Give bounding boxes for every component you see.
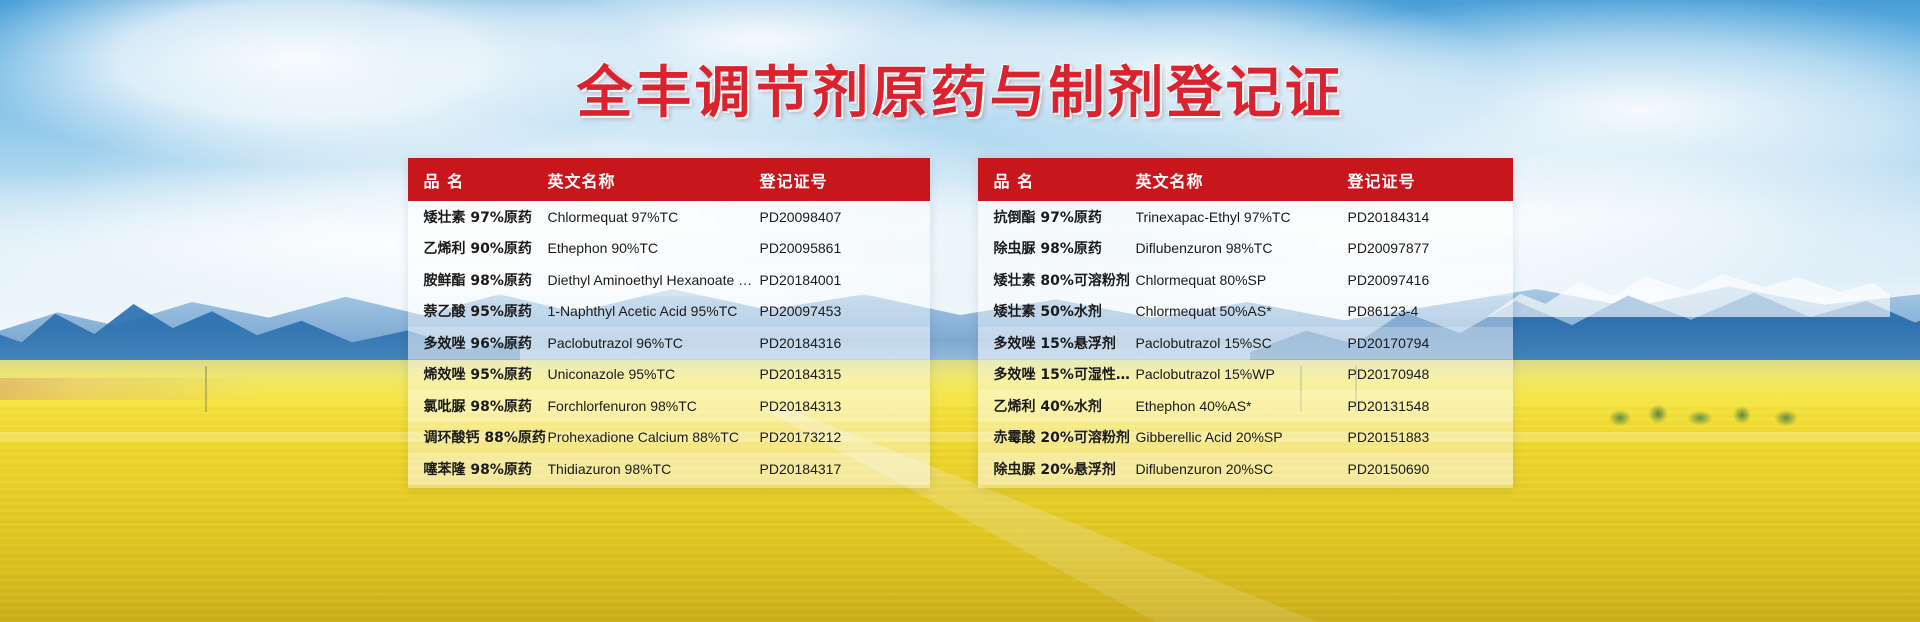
cell-product-name: 矮壮素 97%原药 [408, 207, 548, 227]
cell-registration-number: PD86123-4 [1348, 303, 1513, 319]
table-header-row-right: 品 名 英文名称 登记证号 [978, 158, 1513, 201]
cell-product-name: 噻苯隆 98%原药 [408, 459, 548, 479]
table-row: 除虫脲 98%原药Diflubenzuron 98%TCPD20097877 [978, 233, 1513, 265]
cell-registration-number: PD20184314 [1348, 209, 1513, 225]
cell-product-name: 乙烯利 90%原药 [408, 238, 548, 258]
tables-container: 品 名 英文名称 登记证号 矮壮素 97%原药Chlormequat 97%TC… [0, 158, 1920, 488]
cell-english-name: Paclobutrazol 15%WP [1136, 366, 1348, 382]
cell-english-name: Diflubenzuron 98%TC [1136, 240, 1348, 256]
cell-registration-number: PD20184001 [760, 272, 914, 288]
cell-product-name: 氯吡脲 98%原药 [408, 396, 548, 416]
cell-product-name: 萘乙酸 95%原药 [408, 301, 548, 321]
registration-table-left: 品 名 英文名称 登记证号 矮壮素 97%原药Chlormequat 97%TC… [408, 158, 930, 488]
table-row: 多效唑 15%可湿性粉剂Paclobutrazol 15%WPPD2017094… [978, 359, 1513, 391]
column-header-product-name: 品 名 [978, 168, 1136, 192]
cell-registration-number: PD20170948 [1348, 366, 1513, 382]
table-row: 矮壮素 97%原药Chlormequat 97%TCPD20098407 [408, 201, 930, 233]
cell-english-name: 1-Naphthyl Acetic Acid 95%TC [548, 303, 760, 319]
registration-table-right: 品 名 英文名称 登记证号 抗倒酯 97%原药Trinexapac-Ethyl … [978, 158, 1513, 488]
table-row: 噻苯隆 98%原药Thidiazuron 98%TCPD20184317 [408, 453, 930, 485]
table-row: 调环酸钙 88%原药Prohexadione Calcium 88%TCPD20… [408, 422, 930, 454]
table-row: 赤霉酸 20%可溶粉剂Gibberellic Acid 20%SPPD20151… [978, 422, 1513, 454]
page-title: 全丰调节剂原药与制剂登记证 [577, 62, 1344, 126]
cell-registration-number: PD20131548 [1348, 398, 1513, 414]
cell-english-name: Ethephon 40%AS* [1136, 398, 1348, 414]
cell-registration-number: PD20150690 [1348, 461, 1513, 477]
cell-english-name: Ethephon 90%TC [548, 240, 760, 256]
table-row: 多效唑 15%悬浮剂Paclobutrazol 15%SCPD20170794 [978, 327, 1513, 359]
table-header-row-left: 品 名 英文名称 登记证号 [408, 158, 930, 201]
cell-registration-number: PD20097416 [1348, 272, 1513, 288]
table-row: 矮壮素 80%可溶粉剂Chlormequat 80%SPPD20097416 [978, 264, 1513, 296]
cell-product-name: 多效唑 15%悬浮剂 [978, 333, 1136, 353]
cell-product-name: 调环酸钙 88%原药 [408, 427, 548, 447]
cell-english-name: Chlormequat 50%AS* [1136, 303, 1348, 319]
cell-product-name: 胺鲜酯 98%原药 [408, 270, 548, 290]
table-row: 抗倒酯 97%原药Trinexapac-Ethyl 97%TCPD2018431… [978, 201, 1513, 233]
cell-registration-number: PD20095861 [760, 240, 914, 256]
cell-product-name: 抗倒酯 97%原药 [978, 207, 1136, 227]
column-header-product-name: 品 名 [408, 168, 548, 192]
table-body-left: 矮壮素 97%原药Chlormequat 97%TCPD20098407乙烯利 … [408, 201, 930, 485]
cell-registration-number: PD20184313 [760, 398, 914, 414]
column-header-registration: 登记证号 [760, 168, 914, 192]
cell-product-name: 赤霉酸 20%可溶粉剂 [978, 427, 1136, 447]
cell-registration-number: PD20184317 [760, 461, 914, 477]
cell-registration-number: PD20184316 [760, 335, 914, 351]
cell-product-name: 矮壮素 50%水剂 [978, 301, 1136, 321]
cell-english-name: Diflubenzuron 20%SC [1136, 461, 1348, 477]
title-container: 全丰调节剂原药与制剂登记证 [0, 62, 1920, 126]
table-row: 乙烯利 90%原药Ethephon 90%TCPD20095861 [408, 233, 930, 265]
table-row: 乙烯利 40%水剂Ethephon 40%AS*PD20131548 [978, 390, 1513, 422]
cell-registration-number: PD20184315 [760, 366, 914, 382]
cell-english-name: Chlormequat 97%TC [548, 209, 760, 225]
table-row: 多效唑 96%原药Paclobutrazol 96%TCPD20184316 [408, 327, 930, 359]
cell-english-name: Forchlorfenuron 98%TC [548, 398, 760, 414]
table-row: 矮壮素 50%水剂Chlormequat 50%AS*PD86123-4 [978, 296, 1513, 328]
cell-english-name: Gibberellic Acid 20%SP [1136, 429, 1348, 445]
table-row: 萘乙酸 95%原药1-Naphthyl Acetic Acid 95%TCPD2… [408, 296, 930, 328]
promotional-banner: 全丰调节剂原药与制剂登记证 品 名 英文名称 登记证号 矮壮素 97%原药Chl… [0, 0, 1920, 622]
cell-english-name: Uniconazole 95%TC [548, 366, 760, 382]
cell-registration-number: PD20097877 [1348, 240, 1513, 256]
cell-english-name: Paclobutrazol 96%TC [548, 335, 760, 351]
cell-registration-number: PD20151883 [1348, 429, 1513, 445]
table-row: 氯吡脲 98%原药Forchlorfenuron 98%TCPD20184313 [408, 390, 930, 422]
cell-product-name: 除虫脲 20%悬浮剂 [978, 459, 1136, 479]
cell-registration-number: PD20173212 [760, 429, 914, 445]
cell-english-name: Paclobutrazol 15%SC [1136, 335, 1348, 351]
cell-registration-number: PD20170794 [1348, 335, 1513, 351]
cell-english-name: Chlormequat 80%SP [1136, 272, 1348, 288]
table-body-right: 抗倒酯 97%原药Trinexapac-Ethyl 97%TCPD2018431… [978, 201, 1513, 485]
cell-english-name: Diethyl Aminoethyl Hexanoate 98%TC [548, 272, 760, 288]
cell-english-name: Trinexapac-Ethyl 97%TC [1136, 209, 1348, 225]
column-header-english-name: 英文名称 [1136, 168, 1348, 192]
cell-product-name: 多效唑 96%原药 [408, 333, 548, 353]
cell-product-name: 烯效唑 95%原药 [408, 364, 548, 384]
cell-product-name: 矮壮素 80%可溶粉剂 [978, 270, 1136, 290]
column-header-english-name: 英文名称 [548, 168, 760, 192]
table-row: 胺鲜酯 98%原药Diethyl Aminoethyl Hexanoate 98… [408, 264, 930, 296]
cell-registration-number: PD20098407 [760, 209, 914, 225]
cell-product-name: 乙烯利 40%水剂 [978, 396, 1136, 416]
table-row: 除虫脲 20%悬浮剂Diflubenzuron 20%SCPD20150690 [978, 453, 1513, 485]
cell-english-name: Thidiazuron 98%TC [548, 461, 760, 477]
cell-product-name: 多效唑 15%可湿性粉剂 [978, 364, 1136, 384]
cell-product-name: 除虫脲 98%原药 [978, 238, 1136, 258]
column-header-registration: 登记证号 [1348, 168, 1513, 192]
cell-english-name: Prohexadione Calcium 88%TC [548, 429, 760, 445]
cell-registration-number: PD20097453 [760, 303, 914, 319]
table-row: 烯效唑 95%原药Uniconazole 95%TCPD20184315 [408, 359, 930, 391]
